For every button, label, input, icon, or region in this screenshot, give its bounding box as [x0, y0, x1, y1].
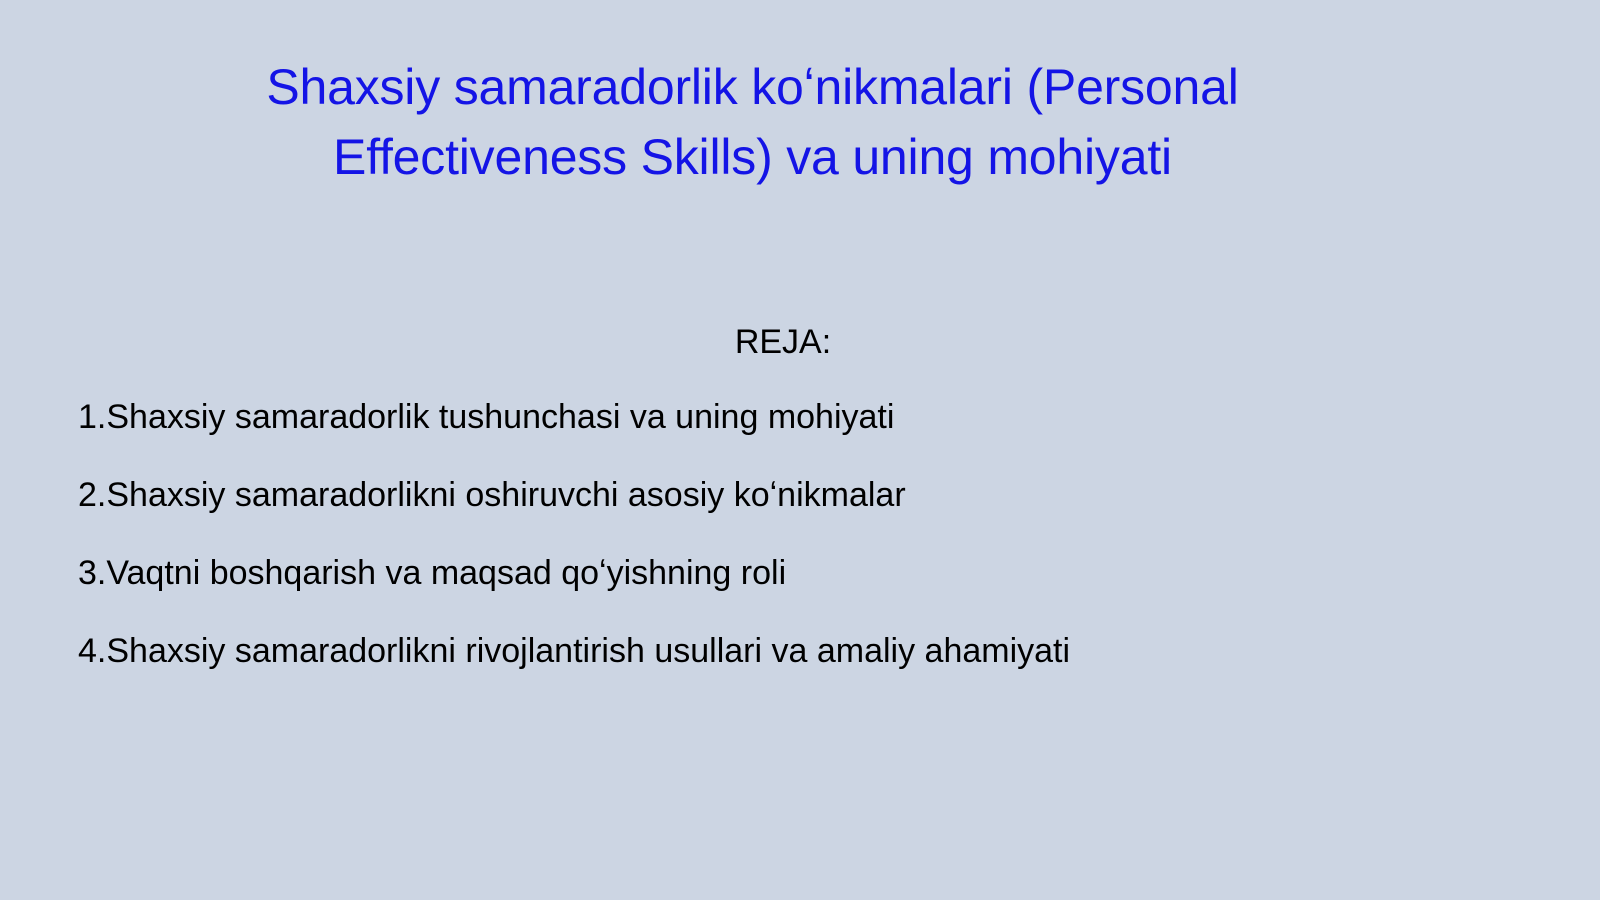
presentation-slide: Shaxsiy samaradorlik koʻnikmalari (Perso… [0, 0, 1600, 900]
agenda-heading: REJA: [28, 318, 1538, 366]
list-item-text: Shaxsiy samaradorlikni oshiruvchi asosiy… [106, 476, 905, 514]
slide-body: REJA: 1.Shaxsiy samaradorlik tushunchasi… [0, 318, 1600, 707]
slide-title-line-2: Effectiveness Skills) va uning mohiyati [160, 122, 1345, 192]
list-item-number: 4. [78, 632, 106, 670]
slide-title: Shaxsiy samaradorlik koʻnikmalari (Perso… [160, 52, 1345, 192]
list-item-text: Shaxsiy samaradorlik tushunchasi va unin… [106, 398, 894, 436]
list-item: 1.Shaxsiy samaradorlik tushunchasi va un… [0, 395, 1600, 473]
list-item: 3.Vaqtni boshqarish va maqsad qoʻyishnin… [0, 551, 1600, 629]
list-item: 4.Shaxsiy samaradorlikni rivojlantirish … [0, 629, 1600, 707]
agenda-list: 1.Shaxsiy samaradorlik tushunchasi va un… [0, 395, 1600, 707]
list-item-text: Shaxsiy samaradorlikni rivojlantirish us… [106, 632, 1070, 670]
slide-title-line-1: Shaxsiy samaradorlik koʻnikmalari (Perso… [160, 52, 1345, 122]
list-item-text: Vaqtni boshqarish va maqsad qoʻyishning … [106, 554, 786, 592]
list-item-number: 3. [78, 554, 106, 592]
list-item-number: 1. [78, 398, 106, 436]
list-item-number: 2. [78, 476, 106, 514]
list-item: 2.Shaxsiy samaradorlikni oshiruvchi asos… [0, 473, 1600, 551]
